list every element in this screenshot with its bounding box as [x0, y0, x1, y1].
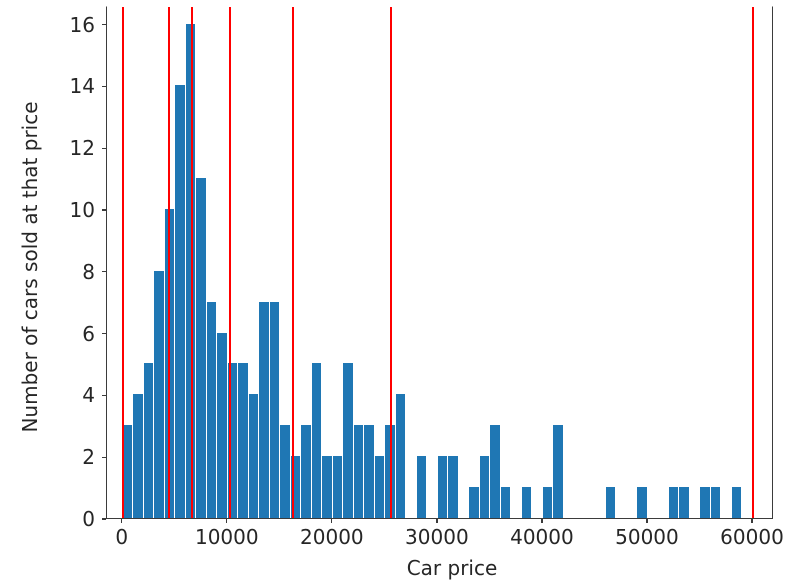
x-tick	[331, 519, 332, 523]
y-tick-label: 16	[70, 15, 95, 35]
y-tick	[102, 271, 106, 272]
cluster-boundary-line	[168, 7, 170, 518]
y-tick	[102, 24, 106, 25]
histogram-bar	[196, 178, 206, 518]
histogram-bar	[238, 363, 248, 518]
y-tick	[102, 518, 106, 519]
histogram-bar	[322, 456, 332, 518]
histogram-bar	[732, 487, 742, 518]
x-tick-label: 30000	[405, 527, 469, 547]
y-tick-label: 12	[70, 138, 95, 158]
cluster-boundary-line	[752, 7, 754, 518]
y-tick	[102, 395, 106, 396]
x-tick	[541, 519, 542, 523]
y-tick-label: 6	[82, 324, 95, 344]
y-tick	[102, 148, 106, 149]
histogram-bar	[343, 363, 353, 518]
histogram-bar	[301, 425, 311, 518]
plot-area	[106, 6, 773, 519]
histogram-bar	[637, 487, 647, 518]
histogram-bar	[490, 425, 500, 518]
y-tick-label: 4	[82, 385, 95, 405]
histogram-bar	[364, 425, 374, 518]
histogram-bar	[154, 271, 164, 518]
y-axis-label: Number of cars sold at that price	[18, 7, 42, 527]
histogram-bar	[501, 487, 511, 518]
histogram-bar	[133, 394, 143, 518]
x-tick	[436, 519, 437, 523]
histogram-bar	[700, 487, 710, 518]
x-tick	[646, 519, 647, 523]
histogram-bar	[417, 456, 427, 518]
histogram-bar	[207, 302, 217, 518]
y-tick-label: 2	[82, 447, 95, 467]
y-tick	[102, 333, 106, 334]
y-tick	[102, 86, 106, 87]
cluster-boundary-line	[229, 7, 231, 518]
histogram-bar	[354, 425, 364, 518]
y-tick	[102, 209, 106, 210]
histogram-bar	[606, 487, 616, 518]
x-tick	[121, 519, 122, 523]
x-tick-label: 0	[115, 527, 128, 547]
cluster-boundary-line	[122, 7, 124, 518]
histogram-bar	[175, 85, 185, 518]
y-tick-label: 8	[82, 262, 95, 282]
histogram-bar	[480, 456, 490, 518]
histogram-bar	[259, 302, 269, 518]
histogram-bar	[448, 456, 458, 518]
x-tick	[226, 519, 227, 523]
histogram-bar	[123, 425, 133, 518]
cluster-boundary-line	[292, 7, 294, 518]
histogram-bar	[249, 394, 259, 518]
histogram-bar	[553, 425, 563, 518]
y-tick-label: 0	[82, 509, 95, 529]
cluster-boundary-line	[191, 7, 193, 518]
histogram-bar	[679, 487, 689, 518]
cluster-boundary-line	[390, 7, 392, 518]
y-tick-label: 14	[70, 76, 95, 96]
x-tick-label: 20000	[300, 527, 364, 547]
histogram-bar	[280, 425, 290, 518]
histogram-bar	[375, 456, 385, 518]
histogram-bar	[469, 487, 479, 518]
histogram-figure: 0100002000030000400005000060000 02468101…	[0, 0, 804, 585]
histogram-bar	[438, 456, 448, 518]
histogram-bar	[522, 487, 532, 518]
y-tick	[102, 457, 106, 458]
x-tick-label: 60000	[720, 527, 784, 547]
histogram-bar	[543, 487, 553, 518]
histogram-bar	[312, 363, 322, 518]
x-axis-label-text: Car price	[407, 556, 498, 580]
histogram-bar	[144, 363, 154, 518]
histogram-bar	[333, 456, 343, 518]
y-tick-label: 10	[70, 200, 95, 220]
x-axis-label: Car price	[0, 556, 804, 580]
histogram-bar	[669, 487, 679, 518]
x-tick-label: 10000	[195, 527, 259, 547]
x-tick	[751, 519, 752, 523]
histogram-bar	[396, 394, 406, 518]
x-tick-label: 40000	[510, 527, 574, 547]
histogram-bar	[217, 333, 227, 518]
histogram-bar	[270, 302, 280, 518]
histogram-bar	[711, 487, 721, 518]
x-tick-label: 50000	[615, 527, 679, 547]
